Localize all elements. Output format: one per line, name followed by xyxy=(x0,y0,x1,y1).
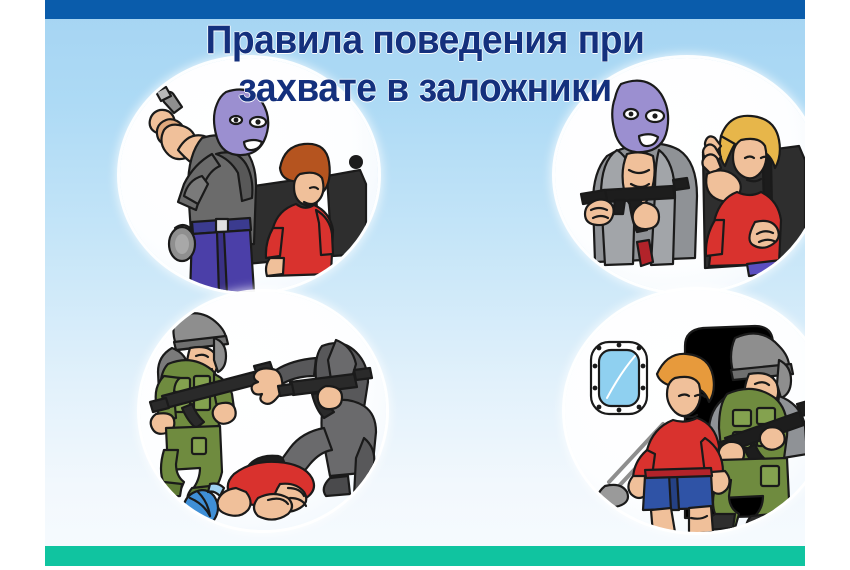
illustration-armed-terrorist-and-seated-woman xyxy=(555,58,805,292)
illustration-soldier-evacuating-hostage xyxy=(565,290,805,532)
top-decor-bar xyxy=(45,0,805,19)
slide-root: Правила поведения при захвате в заложник… xyxy=(0,0,850,570)
airplane-window xyxy=(591,342,647,414)
bottom-decor-bar xyxy=(45,546,805,566)
illustration-terrorist-threatening-hostage xyxy=(120,58,378,292)
panel-assault-team-storming-civilian-lying-down xyxy=(140,292,386,530)
slide-canvas xyxy=(45,0,805,566)
illustration-assault-team-storming xyxy=(140,292,386,530)
panel-terrorist-threatening-hostage xyxy=(120,58,378,292)
panel-armed-terrorist-and-seated-woman xyxy=(555,58,805,292)
panel-soldier-evacuating-freed-hostage xyxy=(565,290,805,532)
